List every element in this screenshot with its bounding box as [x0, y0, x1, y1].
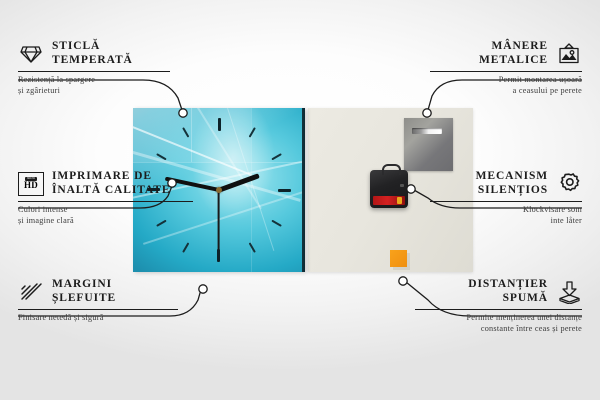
feature-title-line1: MARGINI: [52, 278, 116, 292]
feature-title-line2: TEMPERATĂ: [52, 54, 133, 68]
feature-title-line1: MÂNERE: [479, 40, 548, 54]
feature-metal-handles: MÂNERE METALICE Permit montarea ușoară a…: [430, 40, 582, 96]
feature-title: IMPRIMARE DE ÎNALTĂ CALITATE: [52, 170, 170, 197]
feature-header: MÂNERE METALICE: [430, 40, 582, 67]
mechanism-battery: [373, 196, 405, 205]
picture-frame-hook-icon: [556, 42, 582, 66]
feature-sub-line2: și imagine clară: [18, 216, 193, 227]
clock-tick: [278, 189, 291, 192]
ultra-hd-icon: ultra HD: [18, 172, 44, 196]
feature-title: MECANISM SILENȚIOS: [476, 170, 548, 197]
diagonal-lines-icon: [18, 280, 44, 304]
feature-subtitle: Finisare netedă și sigură: [18, 313, 178, 324]
feature-rule: [18, 309, 178, 310]
hanger-keyhole-slot: [412, 128, 442, 134]
feature-high-quality-print: ultra HD IMPRIMARE DE ÎNALTĂ CALITATE Cu…: [18, 170, 193, 226]
feature-subtitle: Rezistență la spargere și zgârieturi: [18, 75, 170, 96]
clock-mechanism: [370, 170, 408, 208]
mechanism-hanging-loop: [382, 164, 401, 175]
feature-tempered-glass: STICLĂ TEMPERATĂ Rezistență la spargere …: [18, 40, 170, 96]
feature-title: MARGINI ȘLEFUITE: [52, 278, 116, 305]
metal-hanger-plate: [404, 118, 453, 171]
feature-sub-line1: Klockvisare som: [430, 205, 582, 216]
leader-endpoint-edges: [199, 285, 207, 293]
feature-subtitle: Culori intense și imagine clară: [18, 205, 193, 226]
feature-silent-mechanism: MECANISM SILENȚIOS Klockvisare som inte …: [430, 170, 582, 226]
feature-rule: [18, 71, 170, 72]
glass-tile: [133, 162, 305, 163]
feature-sub-line2: a ceasului pe perete: [430, 86, 582, 97]
clock-center-cap: [216, 187, 222, 193]
feature-title-line1: STICLĂ: [52, 40, 133, 54]
arrow-down-pad-icon: [556, 280, 582, 304]
feature-rule: [18, 201, 193, 202]
feature-header: DISTANȚIER SPUMĂ: [415, 278, 582, 305]
feature-header: MARGINI ȘLEFUITE: [18, 278, 178, 305]
feature-title: MÂNERE METALICE: [479, 40, 548, 67]
mechanism-button: [400, 184, 404, 187]
feature-sub-line1: Rezistență la spargere: [18, 75, 170, 86]
feature-header: MECANISM SILENȚIOS: [430, 170, 582, 197]
feature-header: ultra HD IMPRIMARE DE ÎNALTĂ CALITATE: [18, 170, 193, 197]
feature-header: STICLĂ TEMPERATĂ: [18, 40, 170, 67]
feature-sub-line2: inte låter: [430, 216, 582, 227]
feature-title-line1: IMPRIMARE DE: [52, 170, 170, 184]
clock-tick: [217, 249, 220, 262]
feature-sub-line1: Permite menținerea unei distanțe: [415, 313, 582, 324]
feature-subtitle: Permit montarea ușoară a ceasului pe per…: [430, 75, 582, 96]
feature-title-line1: MECANISM: [476, 170, 548, 184]
glass-tile: [133, 108, 192, 162]
diamond-icon: [18, 42, 44, 66]
feature-title-line2: METALICE: [479, 54, 548, 68]
feature-title: STICLĂ TEMPERATĂ: [52, 40, 133, 67]
feature-rule: [430, 201, 582, 202]
feature-title: DISTANȚIER SPUMĂ: [468, 278, 548, 305]
feature-title-line2: ȘLEFUITE: [52, 292, 116, 306]
feature-sub-line1: Culori intense: [18, 205, 193, 216]
second-hand: [218, 190, 220, 250]
feature-title-line2: SILENȚIOS: [476, 184, 548, 198]
feature-foam-spacer: DISTANȚIER SPUMĂ Permite menținerea unei…: [415, 278, 582, 334]
hd-badge-text: HD: [24, 181, 38, 190]
foam-spacer-square: [390, 250, 407, 267]
feature-rule: [415, 309, 582, 310]
clock-tick: [182, 242, 189, 253]
feature-subtitle: Permite menținerea unei distanțe constan…: [415, 313, 582, 334]
clock-tick: [249, 242, 256, 253]
clock-tick: [218, 118, 221, 131]
feature-polished-edges: MARGINI ȘLEFUITE Finisare netedă și sigu…: [18, 278, 178, 324]
glass-tile: [191, 108, 251, 162]
feature-sub-line2: și zgârieturi: [18, 86, 170, 97]
gear-icon: [556, 172, 582, 196]
feature-subtitle: Klockvisare som inte låter: [430, 205, 582, 226]
feature-title-line2: ÎNALTĂ CALITATE: [52, 184, 170, 198]
feature-rule: [430, 71, 582, 72]
feature-sub-line1: Permit montarea ușoară: [430, 75, 582, 86]
feature-sub-line1: Finisare netedă și sigură: [18, 313, 178, 324]
feature-sub-line2: constante între ceas și perete: [415, 324, 582, 335]
feature-title-line1: DISTANȚIER: [468, 278, 548, 292]
feature-title-line2: SPUMĂ: [468, 292, 548, 306]
leader-endpoint-spacer: [399, 277, 407, 285]
infographic-canvas: STICLĂ TEMPERATĂ Rezistență la spargere …: [0, 0, 600, 400]
